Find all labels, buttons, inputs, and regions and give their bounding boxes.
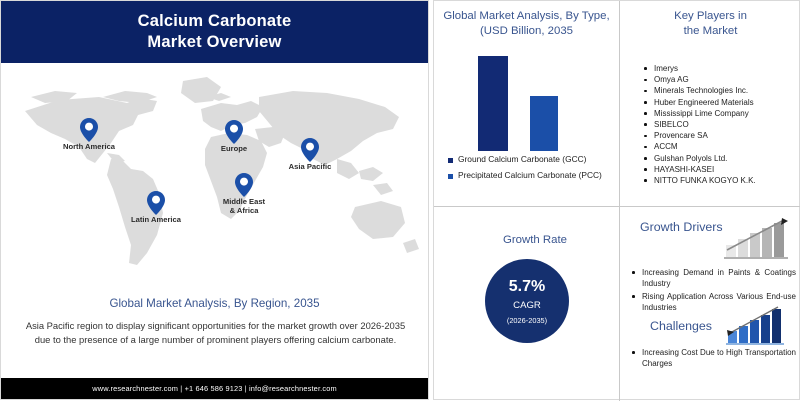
list-item: Gulshan Polyols Ltd. [642,153,800,164]
key-players-panel: Key Players in the Market Imerys Omya AG… [620,1,800,207]
page-title: Calcium Carbonate Market Overview [1,11,428,53]
right-panels: Global Market Analysis, By Type, (USD Bi… [433,0,800,400]
cagr-period: (2026-2035) [485,316,569,325]
region-overview-panel: Calcium Carbonate Market Overview [0,0,429,400]
legend-item-gcc: Ground Calcium Carbonate (GCC) [448,154,620,165]
list-item: Minerals Technologies Inc. [642,85,800,96]
region-description: Asia Pacific region to display significa… [25,319,406,346]
location-pin-icon [80,118,98,142]
location-pin-icon [147,191,165,215]
key-players-title-line-1: Key Players in [628,9,793,24]
key-players-list: Imerys Omya AG Minerals Technologies Inc… [642,63,800,186]
infographic-root: Calcium Carbonate Market Overview [0,0,800,400]
market-by-type-panel: Global Market Analysis, By Type, (USD Bi… [434,1,620,207]
list-item: ACCM [642,141,800,152]
key-players-title: Key Players in the Market [620,1,800,39]
legend-label: Precipitated Calcium Carbonate (PCC) [458,170,602,181]
map-pin-label: Latin America [101,215,211,224]
cagr-value: 5.7% [485,278,569,296]
cagr-badge: 5.7% CAGR (2026-2035) [485,259,569,343]
page-title-line-1: Calcium Carbonate [1,11,428,32]
challenges-list: Increasing Cost Due to High Transportati… [630,347,796,371]
location-pin-icon [301,138,319,162]
world-map-svg [7,67,425,287]
page-title-line-2: Market Overview [1,32,428,53]
map-pin-label: Europe [179,144,289,153]
contact-footer-bar: www.researchnester.com | +1 646 586 9123… [1,378,428,399]
by-type-bar-chart [434,51,620,151]
list-item: Increasing Cost Due to High Transportati… [630,347,796,370]
growth-rate-title: Growth Rate [434,233,620,248]
legend-item-pcc: Precipitated Calcium Carbonate (PCC) [448,170,620,181]
list-item: Mississippi Lime Company [642,108,800,119]
bar-pcc [530,96,558,151]
map-pin-label: Middle East & Africa [189,197,299,215]
location-pin-icon [225,120,243,144]
list-item: Provencare SA [642,130,800,141]
growth-drivers-title: Growth Drivers [632,219,732,236]
by-type-title: Global Market Analysis, By Type, (USD Bi… [434,1,619,39]
contact-footer-text: www.researchnester.com | +1 646 586 9123… [1,384,428,393]
map-pin-label: Asia Pacific [255,162,365,171]
key-players-title-line-2: the Market [628,24,793,39]
map-pin-label: North America [34,142,144,151]
drivers-challenges-panel: Growth Drivers Increasing Demand in Pain… [620,207,800,401]
world-map: North America Latin America Europe [1,63,430,291]
location-pin-icon [235,173,253,197]
by-type-legend: Ground Calcium Carbonate (GCC) Precipita… [448,154,620,186]
bar-gcc [478,56,508,151]
list-item: HAYASHI-KASEI [642,164,800,175]
legend-label: Ground Calcium Carbonate (GCC) [458,154,586,165]
list-item: Imerys [642,63,800,74]
region-caption: Global Market Analysis, By Region, 2035 [1,297,428,310]
challenges-bar-chart-icon [726,305,788,347]
growth-rate-panel: Growth Rate 5.7% CAGR (2026-2035) [434,207,620,401]
legend-swatch-icon [448,174,453,179]
list-item: SIBELCO [642,119,800,130]
list-item: Omya AG [642,74,800,85]
legend-swatch-icon [448,158,453,163]
list-item: NITTO FUNKA KOGYO K.K. [642,175,800,186]
cagr-label: CAGR [485,300,569,311]
list-item: Increasing Demand in Paints & Coatings I… [630,267,796,290]
growth-bar-chart-icon [724,217,790,261]
list-item: Huber Engineered Materials [642,97,800,108]
